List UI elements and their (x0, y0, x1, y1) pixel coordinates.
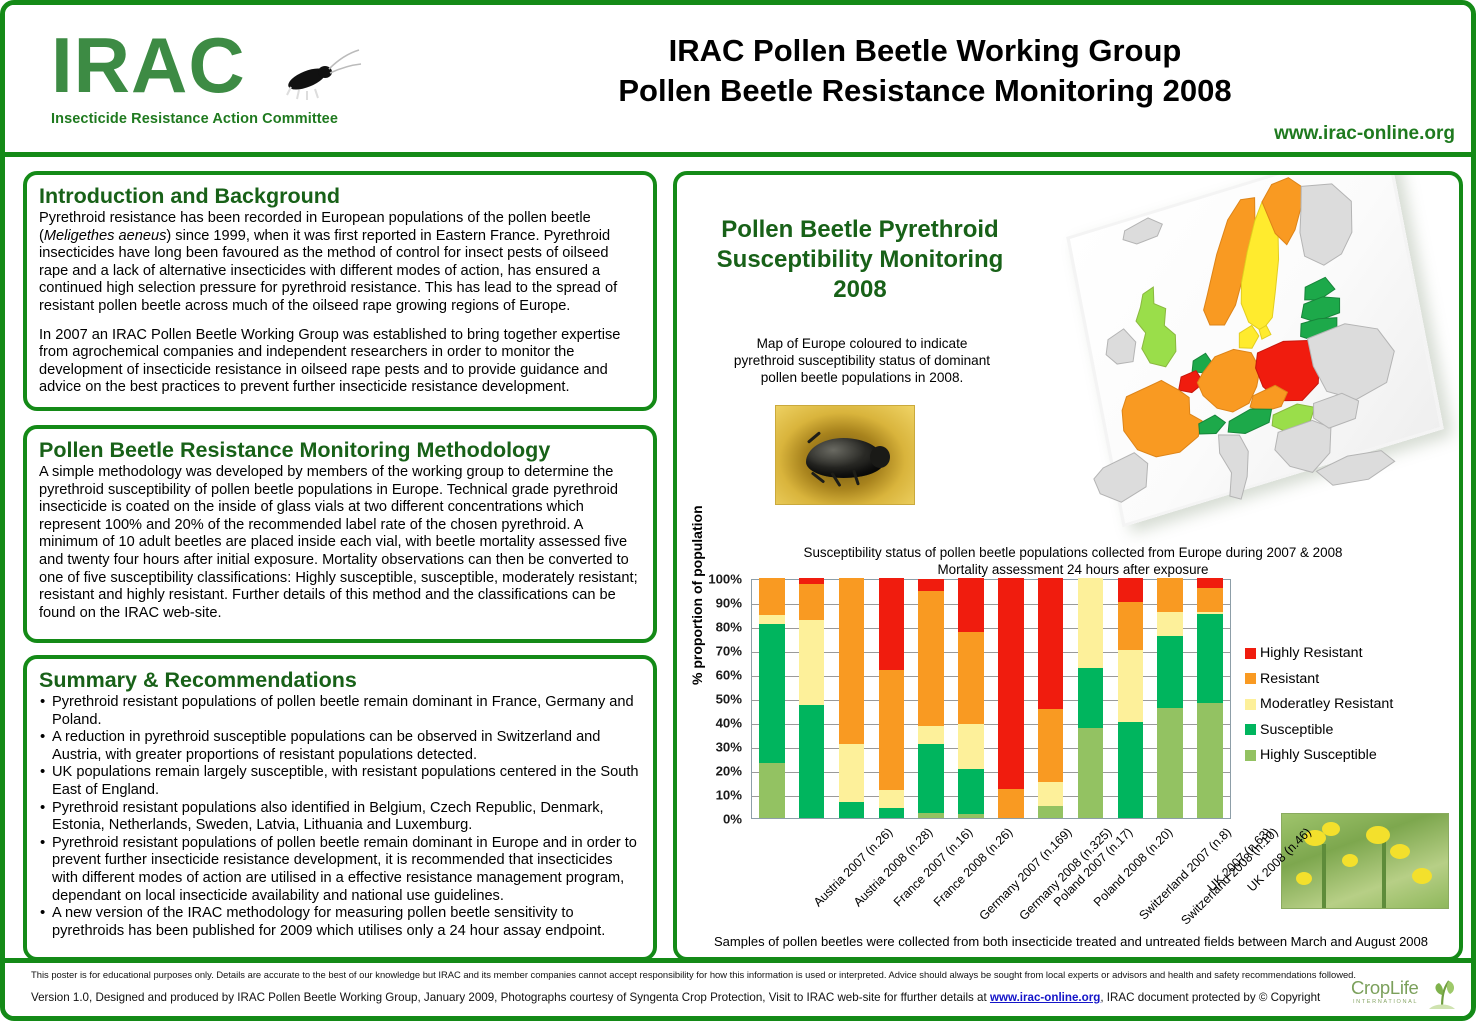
country-italy (1213, 428, 1261, 502)
chart-legend-swatch (1245, 724, 1256, 735)
chart-bar-segment (1157, 612, 1182, 636)
chart-bar-segment (958, 769, 983, 815)
summary-bullet: A new version of the IRAC methodology fo… (39, 905, 641, 940)
poster-header: IRAC Insecticide Resistance Action Commi… (5, 5, 1471, 157)
chart-y-tick: 30% (716, 740, 742, 755)
monitoring-title-line-1: Pollen Beetle Pyrethroid (695, 215, 1025, 245)
footer-version-text-a: Version 1.0, Designed and produced by IR… (31, 991, 990, 1004)
chart-legend-label: Highly Susceptible (1260, 747, 1377, 763)
summary-bullet: Pyrethroid resistant populations of poll… (39, 835, 641, 905)
chart-bar-segment (759, 615, 784, 623)
croplife-logo: CropLife INTERNATIONAL (1351, 971, 1457, 1013)
chart-title-line-1: Susceptibility status of pollen beetle p… (695, 545, 1451, 562)
summary-heading: Summary & Recommendations (39, 667, 641, 693)
monitoring-title-line-2: Susceptibility Monitoring (695, 245, 1025, 275)
chart-stacked-bar[interactable] (958, 580, 983, 818)
methodology-heading: Pollen Beetle Resistance Monitoring Meth… (39, 437, 641, 463)
chart-y-tick: 70% (716, 644, 742, 659)
chart-legend-label: Highly Resistant (1260, 645, 1363, 661)
chart-bar-segment (998, 789, 1023, 818)
chart-legend-item: Resistant (1245, 671, 1455, 687)
summary-bullet: Pyrethroid resistant populations also id… (39, 800, 641, 835)
chart-bar-segment (1157, 708, 1182, 818)
chart-legend-item: Moderatley Resistant (1245, 696, 1455, 712)
chart-bar-segment (759, 624, 784, 763)
irac-tagline: Insecticide Resistance Action Committee (51, 111, 391, 127)
chart-bar-slot (1190, 580, 1230, 818)
title-line-1: IRAC Pollen Beetle Working Group (405, 31, 1445, 71)
chart-stacked-bar[interactable] (1118, 580, 1143, 818)
summary-panel: Summary & Recommendations Pyrethroid res… (23, 655, 657, 961)
chart-bar-segment (958, 578, 983, 632)
chart-bar-segment (1078, 728, 1103, 818)
chart-bar-segment (1078, 578, 1103, 668)
chart-bar-segment (1078, 668, 1103, 728)
chart-bar-segment (918, 744, 943, 814)
chart-legend-swatch (1245, 750, 1256, 761)
chart-legend-swatch (1245, 673, 1256, 684)
introduction-heading: Introduction and Background (39, 183, 641, 209)
europe-map-svg (1055, 177, 1455, 535)
chart-bar-segment (958, 814, 983, 818)
chart-bar-segment (958, 724, 983, 768)
beetle-logo-icon (273, 45, 363, 105)
chart-stacked-bar[interactable] (1038, 580, 1063, 818)
chart-stacked-bar[interactable] (998, 580, 1023, 818)
chart-stacked-bar[interactable] (1078, 580, 1103, 818)
chart-bar-segment (879, 670, 904, 790)
chart-y-tick: 100% (708, 572, 742, 587)
croplife-subtitle: INTERNATIONAL (1353, 999, 1418, 1005)
chart-bar-segment (1118, 578, 1143, 602)
map-caption: Map of Europe coloured to indicate pyret… (697, 335, 1027, 386)
chart-legend-label: Susceptible (1260, 722, 1333, 738)
footer-disclaimer: This poster is for educational purposes … (31, 969, 1361, 981)
chart-bar-segment (1197, 578, 1222, 588)
chart-y-tick: 50% (716, 692, 742, 707)
summary-bullet-list: Pyrethroid resistant populations of poll… (39, 694, 641, 940)
chart-stacked-bar[interactable] (799, 580, 824, 818)
pollen-beetle-photo (775, 405, 915, 505)
chart-bar-segment (1038, 709, 1063, 782)
methodology-panel: Pollen Beetle Resistance Monitoring Meth… (23, 425, 657, 643)
title-line-2: Pollen Beetle Resistance Monitoring 2008 (405, 71, 1445, 111)
chart-bar-slot (1110, 580, 1150, 818)
country-iceland (1119, 215, 1165, 248)
chart-stacked-bar[interactable] (879, 580, 904, 818)
footer-version-line: Version 1.0, Designed and produced by IR… (31, 991, 1351, 1005)
beetle-leg (807, 431, 821, 444)
chart-bar-slot (752, 580, 792, 818)
chart-bar-slot (911, 580, 951, 818)
chart-legend-swatch (1245, 699, 1256, 710)
chart-bar-segment (918, 726, 943, 744)
chart-title-line-2: Mortality assessment 24 hours after expo… (695, 562, 1451, 579)
monitoring-title-line-3: 2008 (695, 275, 1025, 305)
map-caption-line-1: Map of Europe coloured to indicate (697, 335, 1027, 352)
chart-bar-slot (951, 580, 991, 818)
chart-bar-segment (1118, 602, 1143, 650)
country-united-kingdom (1126, 285, 1183, 372)
chart-stacked-bar[interactable] (839, 580, 864, 818)
chart-bar-segment (1197, 703, 1222, 818)
chart-y-tick: 60% (716, 668, 742, 683)
chart-y-tick: 80% (716, 620, 742, 635)
chart-bars (752, 580, 1230, 818)
methodology-body: A simple methodology was developed by me… (39, 464, 641, 622)
chart-bar-segment (918, 591, 943, 725)
monitoring-panel: Pollen Beetle Pyrethroid Susceptibility … (673, 171, 1463, 961)
chart-bar-slot (991, 580, 1031, 818)
summary-bullet: A reduction in pyrethroid susceptible po… (39, 729, 641, 764)
chart-bar-segment (1197, 588, 1222, 612)
chart-bar-segment (839, 578, 864, 744)
chart-stacked-bar[interactable] (918, 580, 943, 818)
chart-title: Susceptibility status of pollen beetle p… (695, 545, 1451, 578)
chart-stacked-bar[interactable] (1197, 580, 1222, 818)
map-caption-line-3: pollen beetle populations in 2008. (697, 369, 1027, 386)
chart-bar-segment (1038, 578, 1063, 709)
chart-bar-slot (832, 580, 872, 818)
irac-website-link[interactable]: www.irac-online.org (1274, 123, 1455, 145)
chart-y-tick: 20% (716, 764, 742, 779)
page-title: IRAC Pollen Beetle Working Group Pollen … (405, 31, 1445, 111)
europe-susceptibility-map (1055, 177, 1455, 535)
chart-y-tick: 90% (716, 596, 742, 611)
chart-bar-segment (839, 744, 864, 803)
croplife-name: CropLife (1351, 977, 1419, 999)
susceptibility-stacked-bar-chart: % proportion of population 0%10%20%30%40… (685, 579, 1459, 879)
introduction-paragraph-1: Pyrethroid resistance has been recorded … (39, 210, 641, 316)
chart-bar-segment (1038, 806, 1063, 818)
chart-bar-segment (759, 763, 784, 818)
chart-bar-segment (879, 790, 904, 808)
country-ireland (1101, 327, 1141, 369)
chart-bar-segment (998, 578, 1023, 789)
chart-plot-area (751, 579, 1231, 819)
summary-bullet: UK populations remain largely susceptibl… (39, 764, 641, 799)
chart-y-tick: 10% (716, 788, 742, 803)
beetle-head-shape (870, 446, 890, 468)
chart-bar-segment (1038, 782, 1063, 806)
chart-bar-segment (799, 578, 824, 584)
country-spain (1090, 450, 1156, 508)
chart-bar-segment (879, 578, 904, 670)
introduction-panel: Introduction and Background Pyrethroid r… (23, 171, 657, 411)
chart-bar-slot (1150, 580, 1190, 818)
chart-bar-segment (879, 808, 904, 818)
chart-stacked-bar[interactable] (1157, 580, 1182, 818)
chart-bar-segment (1157, 578, 1182, 612)
chart-y-tick: 40% (716, 716, 742, 731)
chart-legend-label: Resistant (1260, 671, 1319, 687)
chart-legend-label: Moderatley Resistant (1260, 696, 1393, 712)
croplife-sprout-icon (1427, 973, 1457, 1011)
chart-y-tick: 0% (723, 812, 742, 827)
chart-legend-item: Susceptible (1245, 722, 1455, 738)
chart-bar-segment (1118, 650, 1143, 722)
chart-x-axis-labels: Austria 2007 (n.26)Austria 2008 (n.28)Fr… (751, 823, 1231, 943)
chart-bar-segment (1157, 636, 1182, 708)
poster-footer: This poster is for educational purposes … (5, 958, 1471, 1016)
chart-bar-segment (1197, 614, 1222, 703)
introduction-paragraph-2: In 2007 an IRAC Pollen Beetle Working Gr… (39, 327, 641, 397)
country-switzerland (1196, 413, 1228, 438)
chart-legend: Highly ResistantResistantModeratley Resi… (1245, 645, 1455, 773)
poster-root: IRAC Insecticide Resistance Action Commi… (0, 0, 1476, 1021)
chart-footnote: Samples of pollen beetles were collected… (693, 934, 1449, 949)
chart-bar-segment (759, 578, 784, 615)
footer-version-text-b: , IRAC document protected by © Copyright (1100, 991, 1320, 1004)
monitoring-title: Pollen Beetle Pyrethroid Susceptibility … (695, 215, 1025, 305)
map-caption-line-2: pyrethroid susceptibility status of domi… (697, 352, 1027, 369)
chart-bar-segment (958, 632, 983, 724)
chart-bar-segment (1118, 722, 1143, 818)
species-name: Meligethes aeneus (44, 228, 167, 244)
chart-bar-segment (799, 705, 824, 818)
chart-legend-swatch (1245, 648, 1256, 659)
summary-bullet: Pyrethroid resistant populations of poll… (39, 694, 641, 729)
chart-stacked-bar[interactable] (759, 580, 784, 818)
chart-legend-item: Highly Susceptible (1245, 747, 1455, 763)
chart-bar-slot (1031, 580, 1071, 818)
chart-legend-item: Highly Resistant (1245, 645, 1455, 661)
chart-bar-slot (1071, 580, 1111, 818)
chart-bar-segment (799, 620, 824, 705)
chart-bar-slot (792, 580, 832, 818)
chart-bar-segment (799, 584, 824, 620)
chart-bar-segment (839, 802, 864, 818)
chart-bar-segment (918, 579, 943, 591)
chart-bar-segment (918, 813, 943, 818)
chart-y-axis-ticks: 0%10%20%30%40%50%60%70%80%90%100% (685, 579, 747, 819)
footer-website-link[interactable]: www.irac-online.org (990, 991, 1100, 1004)
chart-bar-slot (871, 580, 911, 818)
chart-bar-segment (1197, 612, 1222, 614)
